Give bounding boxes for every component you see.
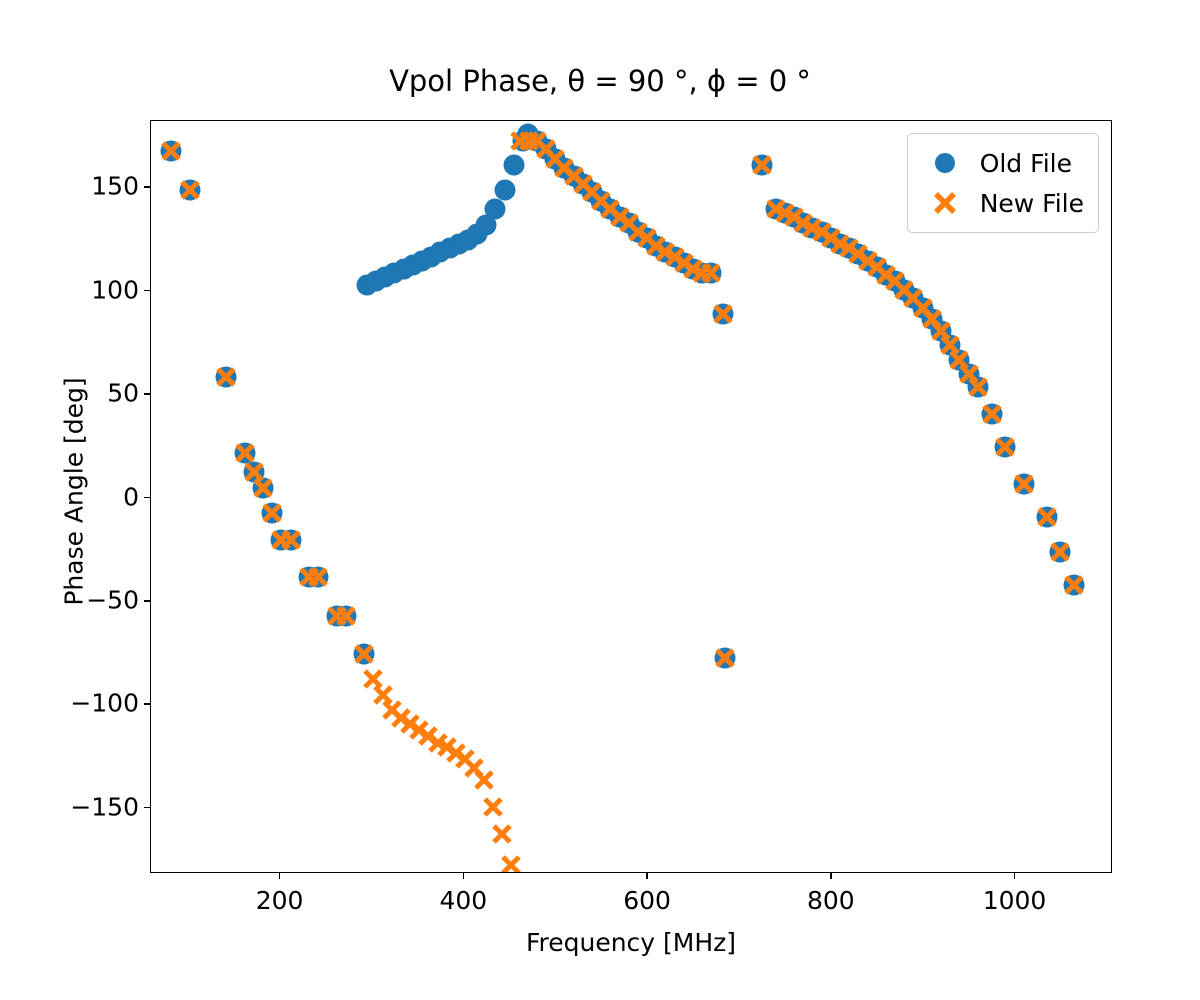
data-point-old-file xyxy=(503,155,524,176)
x-tick-label: 400 xyxy=(439,886,487,915)
legend-label-old-file: Old File xyxy=(972,149,1072,178)
circle-marker-icon xyxy=(918,146,972,180)
y-tick-label: 100 xyxy=(91,275,139,304)
y-tick-label: −150 xyxy=(70,792,139,821)
data-point-new-file xyxy=(159,139,183,163)
y-tick-label: 0 xyxy=(123,482,139,511)
data-point-new-file xyxy=(966,375,990,399)
data-point-new-file xyxy=(1012,472,1036,496)
y-tick-mark xyxy=(144,186,151,188)
data-point-old-file xyxy=(494,180,515,201)
data-point-new-file xyxy=(713,646,737,670)
data-point-new-file xyxy=(178,178,202,202)
x-tick-label: 800 xyxy=(807,886,855,915)
data-point-new-file xyxy=(699,261,723,285)
data-point-new-file xyxy=(980,402,1004,426)
y-tick-mark xyxy=(144,600,151,602)
y-tick-label: 150 xyxy=(91,172,139,201)
data-point-new-file xyxy=(251,476,275,500)
x-tick-mark xyxy=(463,872,465,879)
data-point-new-file xyxy=(279,528,303,552)
data-point-new-file xyxy=(490,822,514,846)
data-point-new-file xyxy=(306,565,330,589)
x-axis-label: Frequency [MHz] xyxy=(150,928,1112,957)
data-point-new-file xyxy=(499,853,523,872)
data-point-old-file xyxy=(485,198,506,219)
data-point-new-file xyxy=(334,604,358,628)
x-marker-icon xyxy=(918,186,972,220)
data-point-new-file xyxy=(1048,540,1072,564)
data-point-new-file xyxy=(481,795,505,819)
x-tick-label: 1000 xyxy=(983,886,1047,915)
y-tick-label: 50 xyxy=(107,379,139,408)
data-point-new-file xyxy=(214,365,238,389)
matplotlib-figure: Vpol Phase, θ = 90 °, ϕ = 0 ° Phase Angl… xyxy=(0,0,1200,1000)
x-tick-mark xyxy=(830,872,832,879)
data-point-new-file xyxy=(711,302,735,326)
scatter-data-layer xyxy=(151,121,1111,872)
x-tick-mark xyxy=(279,872,281,879)
data-point-new-file xyxy=(1062,573,1086,597)
page-title: Vpol Phase, θ = 90 °, ϕ = 0 ° xyxy=(0,64,1200,98)
data-point-new-file xyxy=(260,501,284,525)
legend-item-new-file[interactable]: New File xyxy=(918,183,1084,223)
chart-legend: Old File New File xyxy=(907,133,1099,233)
y-tick-mark xyxy=(144,393,151,395)
x-tick-mark xyxy=(646,872,648,879)
plot-axes: Old File New File −150−100−5005010015020… xyxy=(150,120,1112,873)
y-tick-mark xyxy=(144,497,151,499)
y-tick-label: −100 xyxy=(70,689,139,718)
x-tick-label: 600 xyxy=(623,886,671,915)
y-tick-mark xyxy=(144,703,151,705)
data-point-new-file xyxy=(352,642,376,666)
x-tick-label: 200 xyxy=(256,886,304,915)
data-point-new-file xyxy=(750,153,774,177)
y-tick-mark xyxy=(144,290,151,292)
data-point-new-file xyxy=(1035,505,1059,529)
y-tick-mark xyxy=(144,807,151,809)
data-point-new-file xyxy=(993,435,1017,459)
data-point-new-file xyxy=(472,768,496,792)
y-tick-label: −50 xyxy=(86,585,139,614)
legend-label-new-file: New File xyxy=(972,189,1084,218)
legend-item-old-file[interactable]: Old File xyxy=(918,143,1084,183)
x-tick-mark xyxy=(1014,872,1016,879)
